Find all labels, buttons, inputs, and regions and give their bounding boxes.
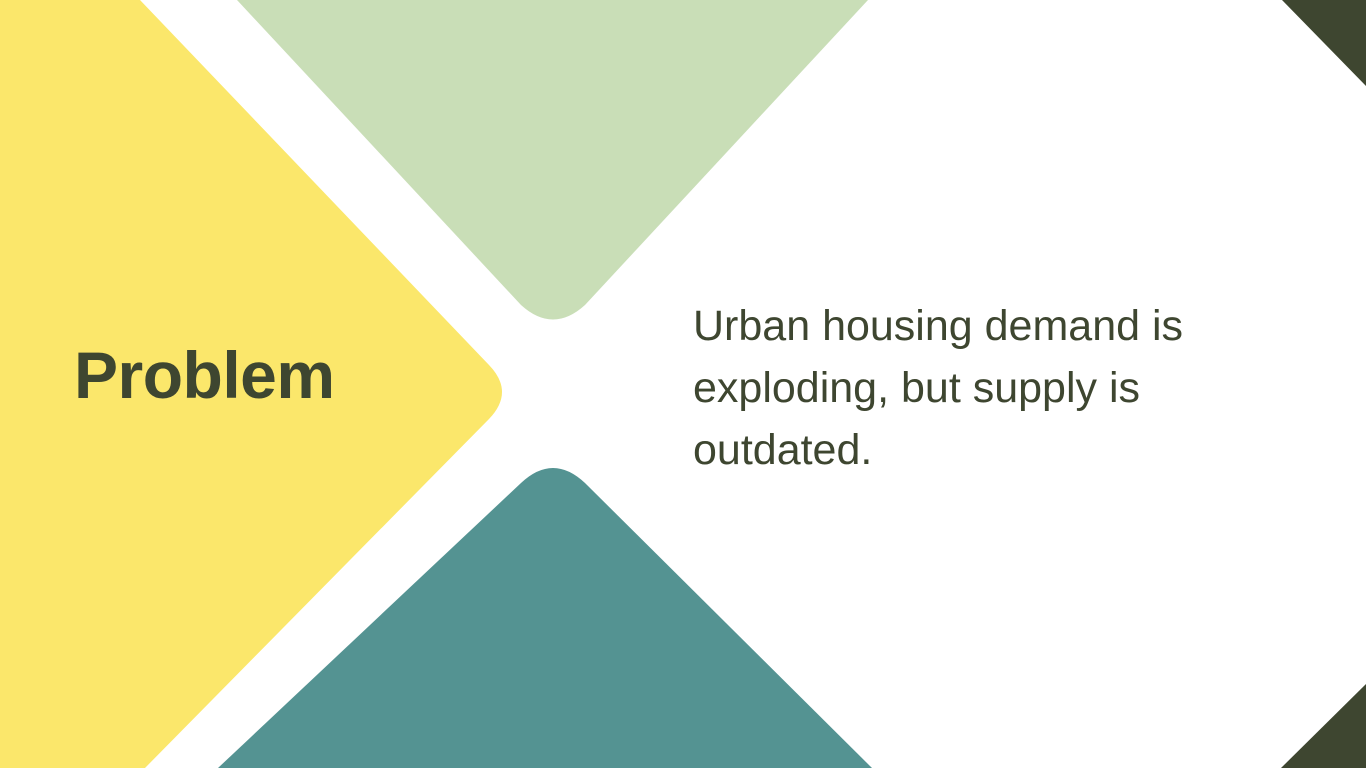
slide-body-text: Urban housing demand is exploding, but s… bbox=[693, 295, 1238, 481]
dark-olive-corner-top-right bbox=[1282, 0, 1366, 86]
slide-canvas: Problem Urban housing demand is explodin… bbox=[0, 0, 1366, 768]
dark-olive-corner-bottom-right bbox=[1281, 684, 1366, 768]
slide-title: Problem bbox=[74, 339, 504, 413]
